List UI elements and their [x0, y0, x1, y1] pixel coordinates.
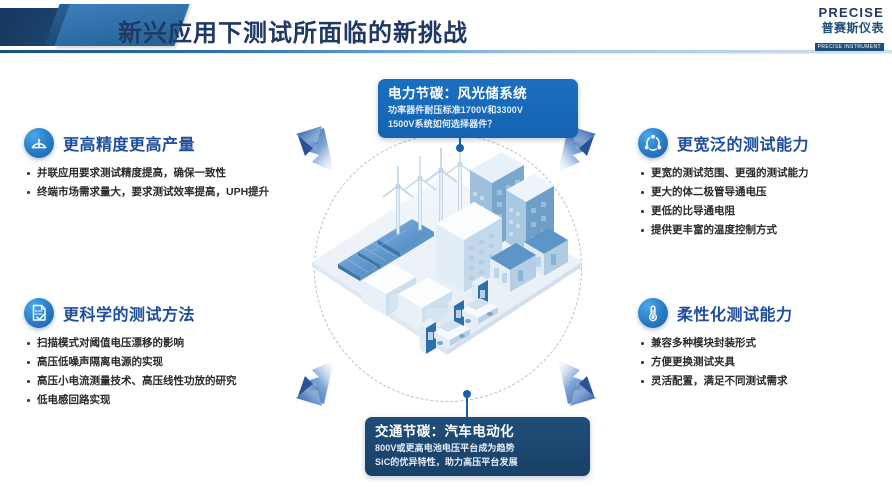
callout-line-1: 功率器件耐压标准1700V和3300V — [388, 103, 568, 117]
card-header: 更宽泛的测试能力 — [638, 128, 888, 158]
page-title: 新兴应用下测试所面临的新挑战 — [118, 13, 468, 48]
isometric-smart-energy-city — [310, 142, 584, 392]
list-item: 并联应用要求测试精度提高，确保一致性 — [24, 165, 292, 182]
logo-brand-sub: PRECISE INSTRUMENT — [815, 43, 884, 51]
document-check-icon — [24, 298, 54, 328]
card-title: 柔性化测试能力 — [677, 301, 793, 325]
list-item: 更大的体二极管导通电压 — [638, 184, 888, 201]
callout-title: 交通节碳：汽车电动化 — [375, 423, 580, 441]
list-item: 终端市场需求量大，要求测试效率提高，UPH提升 — [24, 184, 292, 201]
list-item: 更低的比导通电阻 — [638, 203, 888, 220]
gauge-icon — [24, 128, 54, 158]
list-item: 兼容多种模块封装形式 — [638, 335, 888, 352]
thermometer-icon — [638, 298, 668, 328]
card-broader-capability: 更宽泛的测试能力 更宽的测试范围、更强的测试能力 更大的体二极管导通电压 更低的… — [638, 128, 888, 241]
card-title: 更科学的测试方法 — [63, 301, 195, 325]
card-header: 更科学的测试方法 — [24, 298, 314, 328]
card-bullet-list: 并联应用要求测试精度提高，确保一致性 终端市场需求量大，要求测试效率提高，UPH… — [24, 165, 292, 201]
callout-title: 电力节碳：风光储系统 — [388, 85, 568, 103]
header-divider-thin — [0, 53, 892, 54]
card-flexible-testing: 柔性化测试能力 兼容多种模块封装形式 方便更换测试夹具 灵活配置，满足不同测试需… — [638, 298, 888, 392]
callout-top-anchor-dot — [456, 144, 464, 152]
slide-header: 新兴应用下测试所面临的新挑战 PRECISE 普赛斯仪表 PRECISE INS… — [0, 0, 892, 54]
callout-bottom-anchor-dot — [463, 390, 471, 398]
list-item: 提供更丰富的温度控制方式 — [638, 222, 888, 239]
center-illustration-stage — [292, 112, 602, 432]
company-logo: PRECISE 普赛斯仪表 PRECISE INSTRUMENT — [802, 6, 884, 53]
list-item: 高压小电流测量技术、高压线性功放的研究 — [24, 373, 314, 390]
callout-line-2: 1500V系统如何选择器件？ — [388, 117, 568, 131]
list-item: 高压低噪声隔离电源的实现 — [24, 354, 314, 371]
card-title: 更高精度更高产量 — [63, 131, 195, 155]
list-item: 低电感回路实现 — [24, 392, 314, 409]
callout-line-2: SiC的优异特性，助力高压平台发展 — [375, 455, 580, 469]
logo-brand-en-text: PRECISE — [819, 5, 884, 20]
card-bullet-list: 更宽的测试范围、更强的测试能力 更大的体二极管导通电压 更低的比导通电阻 提供更… — [638, 165, 888, 239]
card-title: 更宽泛的测试能力 — [677, 131, 809, 155]
share-network-icon — [638, 128, 668, 158]
list-item: 更宽的测试范围、更强的测试能力 — [638, 165, 888, 182]
callout-power-decarbonization: 电力节碳：风光储系统 功率器件耐压标准1700V和3300V 1500V系统如何… — [378, 79, 578, 138]
card-higher-accuracy: 更高精度更高产量 并联应用要求测试精度提高，确保一致性 终端市场需求量大，要求测… — [24, 128, 292, 203]
slide-root: 新兴应用下测试所面临的新挑战 PRECISE 普赛斯仪表 PRECISE INS… — [0, 0, 892, 504]
card-scientific-method: 更科学的测试方法 扫描模式对阈值电压漂移的影响 高压低噪声隔离电源的实现 高压小… — [24, 298, 314, 411]
card-bullet-list: 扫描模式对阈值电压漂移的影响 高压低噪声隔离电源的实现 高压小电流测量技术、高压… — [24, 335, 314, 409]
callout-line-1: 800V或更高电池电压平台成为趋势 — [375, 441, 580, 455]
list-item: 灵活配置，满足不同测试需求 — [638, 373, 888, 390]
callout-transport-decarbonization: 交通节碳：汽车电动化 800V或更高电池电压平台成为趋势 SiC的优异特性，助力… — [365, 417, 590, 476]
card-header: 柔性化测试能力 — [638, 298, 888, 328]
list-item: 方便更换测试夹具 — [638, 354, 888, 371]
logo-brand-cn: 普赛斯仪表 — [802, 21, 884, 35]
logo-brand-en: PRECISE — [802, 6, 884, 20]
list-item: 扫描模式对阈值电压漂移的影响 — [24, 335, 314, 352]
card-header: 更高精度更高产量 — [24, 128, 292, 158]
card-bullet-list: 兼容多种模块封装形式 方便更换测试夹具 灵活配置，满足不同测试需求 — [638, 335, 888, 390]
